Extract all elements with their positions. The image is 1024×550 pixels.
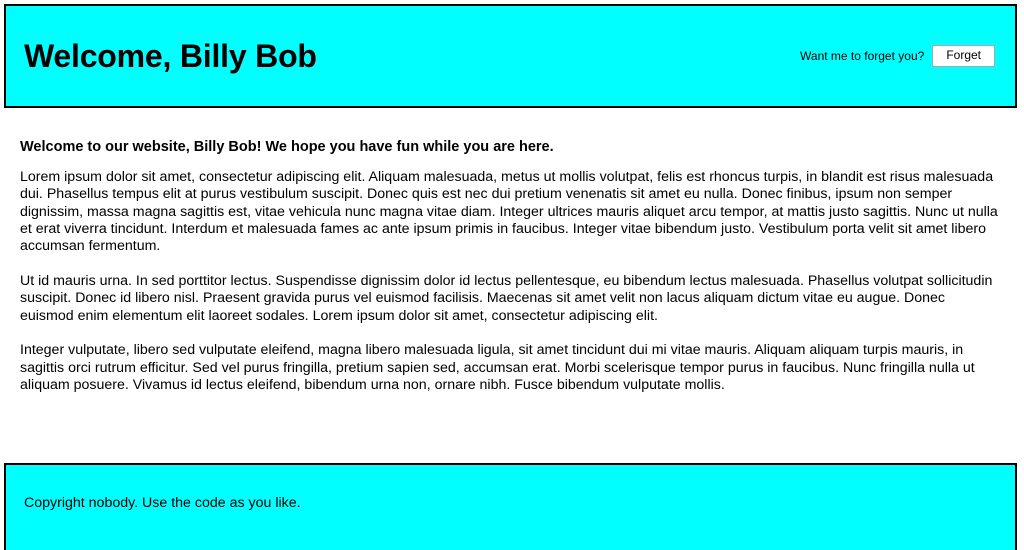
body-paragraph: Integer vulputate, libero sed vulputate … xyxy=(20,342,1002,394)
forget-prompt-label: Want me to forget you? xyxy=(800,49,924,63)
body-paragraph: Ut id mauris urna. In sed porttitor lect… xyxy=(20,273,1002,325)
copyright-text: Copyright nobody. Use the code as you li… xyxy=(24,494,301,520)
site-footer: Copyright nobody. Use the code as you li… xyxy=(4,463,1017,550)
intro-heading: Welcome to our website, Billy Bob! We ho… xyxy=(20,138,1002,157)
body-paragraph: Lorem ipsum dolor sit amet, consectetur … xyxy=(20,169,1002,256)
forget-button[interactable]: Forget xyxy=(932,45,995,67)
forget-area: Want me to forget you? Forget xyxy=(800,45,997,67)
page-root: Welcome, Billy Bob Want me to forget you… xyxy=(0,0,1024,550)
site-header: Welcome, Billy Bob Want me to forget you… xyxy=(4,4,1017,108)
main-content: Welcome to our website, Billy Bob! We ho… xyxy=(0,138,1024,394)
page-title: Welcome, Billy Bob xyxy=(24,37,317,74)
